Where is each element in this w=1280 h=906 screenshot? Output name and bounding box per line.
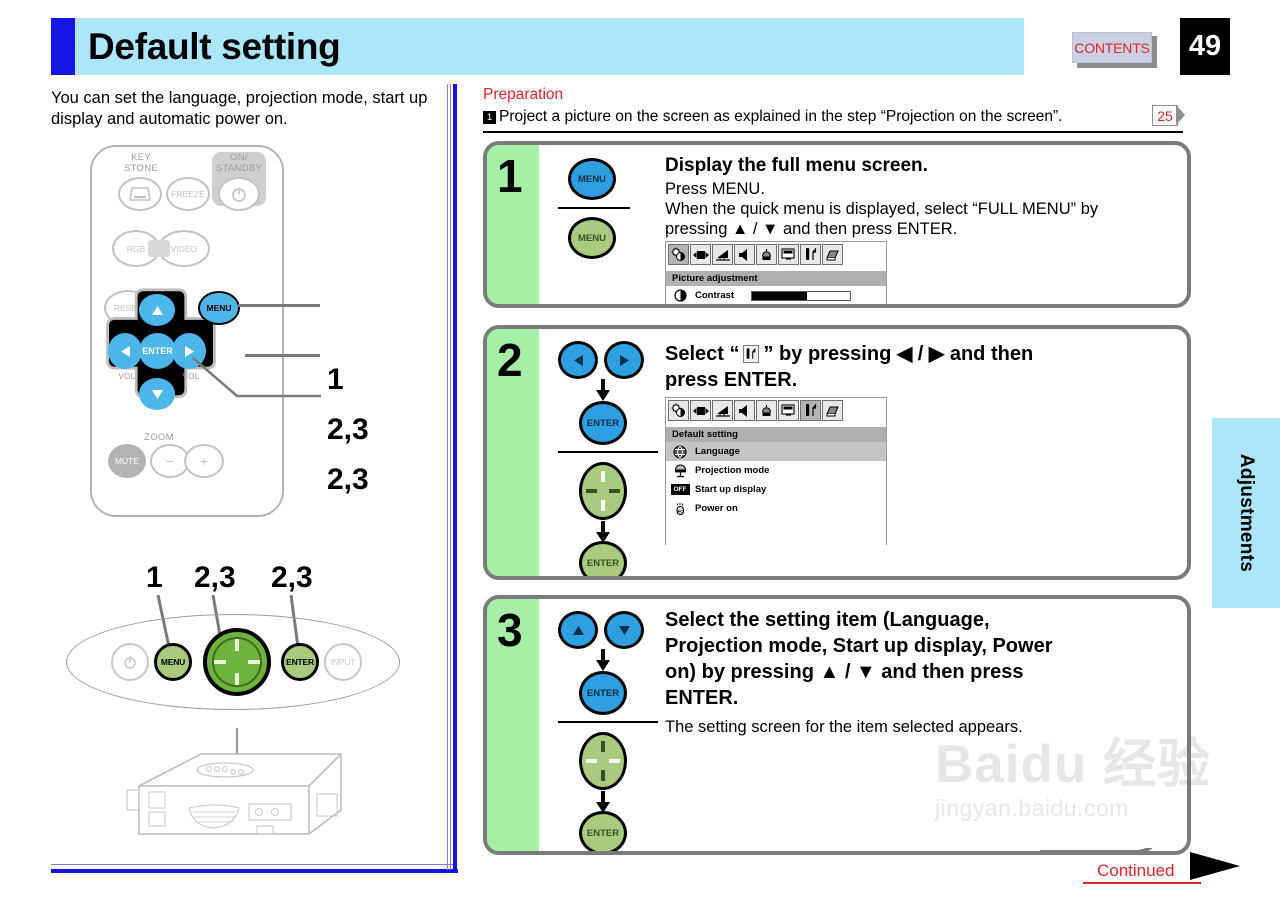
keystone-label: KEY STONE	[112, 153, 170, 174]
side-tab-adjustments[interactable]: Adjustments	[1212, 418, 1280, 608]
step-3-number: 3	[497, 605, 523, 655]
osd-icon-default-setting[interactable]	[800, 244, 821, 265]
step-1-osd-row-contrast[interactable]: Contrast	[666, 286, 886, 305]
page-title: Default setting	[88, 22, 340, 71]
step-3-arrow-down-2	[596, 791, 610, 813]
zoom-label: ZOOM	[134, 433, 184, 444]
menu-button-remote[interactable]: MENU	[198, 291, 240, 325]
remote-callout-2: 2,3	[327, 413, 369, 447]
osd-icon-picture[interactable]	[668, 400, 689, 421]
osd-icon-lamp[interactable]	[756, 244, 777, 265]
menu-label: MENU	[206, 303, 231, 313]
continued-rule	[1083, 882, 1201, 884]
step-1-menu-button-blue[interactable]: MENU	[568, 158, 616, 200]
step-2-left-button[interactable]	[558, 341, 598, 379]
triangle-up-icon	[151, 305, 164, 316]
triangle-down-icon	[618, 625, 631, 636]
left-button[interactable]	[108, 333, 142, 369]
osd-icon-audio[interactable]	[734, 244, 755, 265]
enter-button-remote[interactable]: ENTER	[139, 333, 176, 369]
page-reference-badge[interactable]: 25	[1152, 105, 1178, 126]
left-column: You can set the language, projection mod…	[51, 80, 455, 870]
step-1-menu-button-green[interactable]: MENU	[568, 217, 616, 259]
panel-power-button[interactable]	[111, 643, 149, 681]
panel-callout-1: 1	[146, 561, 163, 595]
contrast-slider[interactable]	[751, 291, 851, 301]
power-icon	[123, 655, 137, 669]
preparation-text: Project a picture on the screen as expla…	[499, 108, 1063, 125]
zoom-plus-button[interactable]: +	[184, 444, 224, 478]
panel-menu-button[interactable]: MENU	[154, 643, 192, 681]
step-2-arrow-down-1	[596, 379, 610, 401]
enter-label: ENTER	[587, 828, 619, 839]
panel-callout-2: 2,3	[194, 561, 236, 595]
step-3-heading-line-3: on) by pressing ▲ / ▼ and then press	[665, 661, 1024, 684]
step-1-body-line-1: Press MENU.	[665, 179, 765, 199]
step-3-heading-line-4: ENTER.	[665, 687, 738, 710]
panel-enter-label: ENTER	[286, 657, 314, 667]
dpad-arrows-icon	[583, 467, 623, 515]
osd-icon-default-setting-inline	[743, 345, 759, 363]
video-label: VIDEO	[171, 244, 197, 254]
vol-minus-label: VOL	[110, 372, 144, 383]
triangle-up-icon	[572, 625, 585, 636]
osd-icon-position[interactable]	[690, 400, 711, 421]
panel-menu-label: MENU	[161, 657, 185, 667]
continued-arrow-icon	[1190, 852, 1240, 880]
header-accent-bar	[51, 18, 75, 75]
step-1-separator	[558, 207, 630, 209]
intro-paragraph: You can set the language, projection mod…	[51, 88, 441, 130]
remote-callout-3: 2,3	[327, 463, 369, 497]
osd-icon-display[interactable]	[778, 244, 799, 265]
enter-label: ENTER	[142, 346, 173, 356]
keystone-button[interactable]	[118, 177, 162, 211]
remote-callout-line-1	[238, 304, 320, 307]
preparation-title: Preparation	[483, 86, 563, 104]
step-box-2: 2 ENTER ENTER Select “” by pressing ◀ / …	[483, 325, 1191, 580]
column-divider-thin-1	[447, 84, 448, 870]
contents-button[interactable]: CONTENTS	[1072, 32, 1152, 63]
down-button[interactable]	[139, 378, 175, 410]
step-1-body-line-2: When the quick menu is displayed, select…	[665, 199, 1098, 219]
osd-icon-image[interactable]	[712, 400, 733, 421]
globe-icon	[672, 445, 688, 459]
step-3-enter-button-blue[interactable]: ENTER	[579, 671, 627, 715]
column-divider-thin-2	[450, 84, 451, 870]
page-reference-number: 25	[1157, 108, 1173, 124]
panel-callout-3: 2,3	[271, 561, 313, 595]
contents-button-label: CONTENTS	[1074, 40, 1149, 56]
panel-input-label: INPUT	[331, 657, 356, 667]
step-3-body-line-1: The setting screen for the item selected…	[665, 717, 1023, 737]
left-frame-thin-rule	[51, 864, 455, 865]
step-1-osd-title: Picture adjustment	[666, 271, 886, 286]
remote-control-illustration: KEY STONE ON/ STANDBY FREEZE RGB VIDEO R…	[90, 145, 284, 517]
step-2-dpad-green[interactable]	[579, 462, 627, 520]
step-3-heading-line-2: Projection mode, Start up display, Power	[665, 635, 1052, 658]
dpad-arrows-icon	[583, 737, 623, 785]
step-2-osd-row-label: Power on	[695, 503, 738, 514]
side-tab-label: Adjustments	[1212, 418, 1280, 608]
off-badge-icon: OFF	[672, 483, 688, 497]
step-2-number: 2	[497, 335, 523, 385]
menu-label: MENU	[578, 233, 606, 244]
up-button[interactable]	[139, 294, 175, 326]
keystone-icon	[129, 187, 151, 201]
step-2-osd-row-label: Start up display	[695, 484, 766, 495]
zoom-plus-label: +	[200, 453, 208, 469]
step-1-heading: Display the full menu screen.	[665, 154, 928, 177]
osd-icon-picture[interactable]	[668, 244, 689, 265]
step-1-osd: Picture adjustment Contrast	[665, 241, 887, 308]
step-2-heading-part-3: press ENTER.	[665, 369, 797, 391]
page-number-box: 49	[1180, 18, 1230, 75]
triangle-down-icon	[151, 389, 164, 400]
step-1-number: 1	[497, 151, 523, 201]
continued-label: Continued	[1097, 861, 1175, 881]
step-2-osd-row-language[interactable]: Language	[666, 442, 886, 461]
step-3-heading-line-1: Select the setting item (Language,	[665, 609, 990, 632]
step-2-heading-part-2: ” by pressing ◀ / ▶ and then	[763, 343, 1033, 365]
enter-label: ENTER	[587, 558, 619, 569]
projector-illustration	[109, 728, 369, 858]
osd-icon-lamp[interactable]	[756, 400, 777, 421]
on-standby-label: ON/ STANDBY	[214, 153, 264, 174]
rgb-label: RGB	[127, 244, 145, 254]
remote-callout-line-3	[191, 356, 323, 404]
step-2-osd-row-label: Projection mode	[695, 465, 769, 476]
step-2-osd-row-projection-mode[interactable]: Projection mode	[666, 461, 886, 480]
osd-icon-default-setting[interactable]	[800, 400, 821, 421]
triangle-right-icon	[619, 354, 630, 367]
triangle-left-icon	[573, 354, 584, 367]
freeze-label: FREEZE	[171, 189, 205, 199]
step-3-enter-button-green[interactable]: ENTER	[579, 811, 627, 855]
contrast-icon	[672, 289, 688, 303]
step-2-osd-title: Default setting	[666, 427, 886, 442]
osd-icon-image[interactable]	[712, 244, 733, 265]
panel-dpad[interactable]	[203, 628, 271, 696]
step-1-osd-row-label: Contrast	[695, 290, 734, 301]
svg-text:AC: AC	[677, 508, 683, 513]
dpad-arrows-icon	[209, 634, 265, 690]
zoom-minus-label: −	[166, 453, 174, 469]
step-1-body-line-3: pressing ▲ / ▼ and then press ENTER.	[665, 219, 957, 239]
projection-mode-icon	[672, 464, 688, 478]
step-2-right-button[interactable]	[604, 341, 644, 379]
preparation-rule	[483, 131, 1183, 133]
step-2-osd-row-label: Language	[695, 446, 740, 457]
step-2-osd-row-power-on[interactable]: AC Power on	[666, 499, 886, 518]
step-3-dpad-green[interactable]	[579, 732, 627, 790]
osd-icon-display[interactable]	[778, 400, 799, 421]
enter-label: ENTER	[587, 418, 619, 429]
step-box-1: 1 MENU MENU Display the full menu screen…	[483, 141, 1191, 308]
column-divider	[453, 84, 457, 870]
step-3-arrow-down-1	[596, 649, 610, 671]
step-box-3: 3 ENTER ENTER Select the setting item (L…	[483, 595, 1191, 855]
on-standby-button[interactable]	[218, 177, 260, 211]
preparation-line: 1Project a picture on the screen as expl…	[483, 107, 1173, 127]
osd-icon-info[interactable]	[822, 244, 843, 265]
osd-icon-info[interactable]	[822, 400, 843, 421]
power-icon	[231, 186, 247, 202]
step-2-osd: Default setting Language Projection mode…	[665, 397, 887, 545]
enter-label: ENTER	[587, 688, 619, 699]
preparation-badge: 1	[483, 111, 496, 124]
panel-enter-button[interactable]: ENTER	[281, 643, 319, 681]
osd-icon-row	[666, 242, 886, 267]
panel-input-button[interactable]: INPUT	[324, 643, 362, 681]
rgb-video-bridge	[148, 240, 170, 257]
left-frame-bottom-rule	[51, 869, 458, 873]
osd-icon-position[interactable]	[690, 244, 711, 265]
step-2-osd-row-start-up-display[interactable]: OFF Start up display	[666, 480, 886, 499]
page-reference-arrow-icon	[1176, 105, 1185, 125]
menu-label: MENU	[578, 174, 606, 185]
step-2-heading: Select “” by pressing ◀ / ▶ and thenpres…	[665, 341, 1175, 393]
power-on-icon: AC	[672, 502, 688, 516]
page-number: 49	[1189, 30, 1221, 63]
step-3-down-button[interactable]	[604, 611, 644, 649]
step-2-separator	[558, 451, 658, 453]
remote-callout-1: 1	[327, 363, 344, 397]
step-3-separator	[558, 721, 658, 723]
step-2-heading-part-1: Select “	[665, 343, 739, 365]
mute-label: MUTE	[115, 456, 139, 466]
step-3-up-button[interactable]	[558, 611, 598, 649]
osd-icon-row	[666, 398, 886, 423]
osd-icon-audio[interactable]	[734, 400, 755, 421]
step-2-enter-button-blue[interactable]: ENTER	[579, 401, 627, 445]
mute-button[interactable]: MUTE	[108, 444, 146, 478]
triangle-left-icon	[120, 345, 131, 358]
freeze-button[interactable]: FREEZE	[166, 177, 210, 211]
step-2-arrow-down-2	[596, 521, 610, 543]
step-2-enter-button-green[interactable]: ENTER	[579, 541, 627, 580]
